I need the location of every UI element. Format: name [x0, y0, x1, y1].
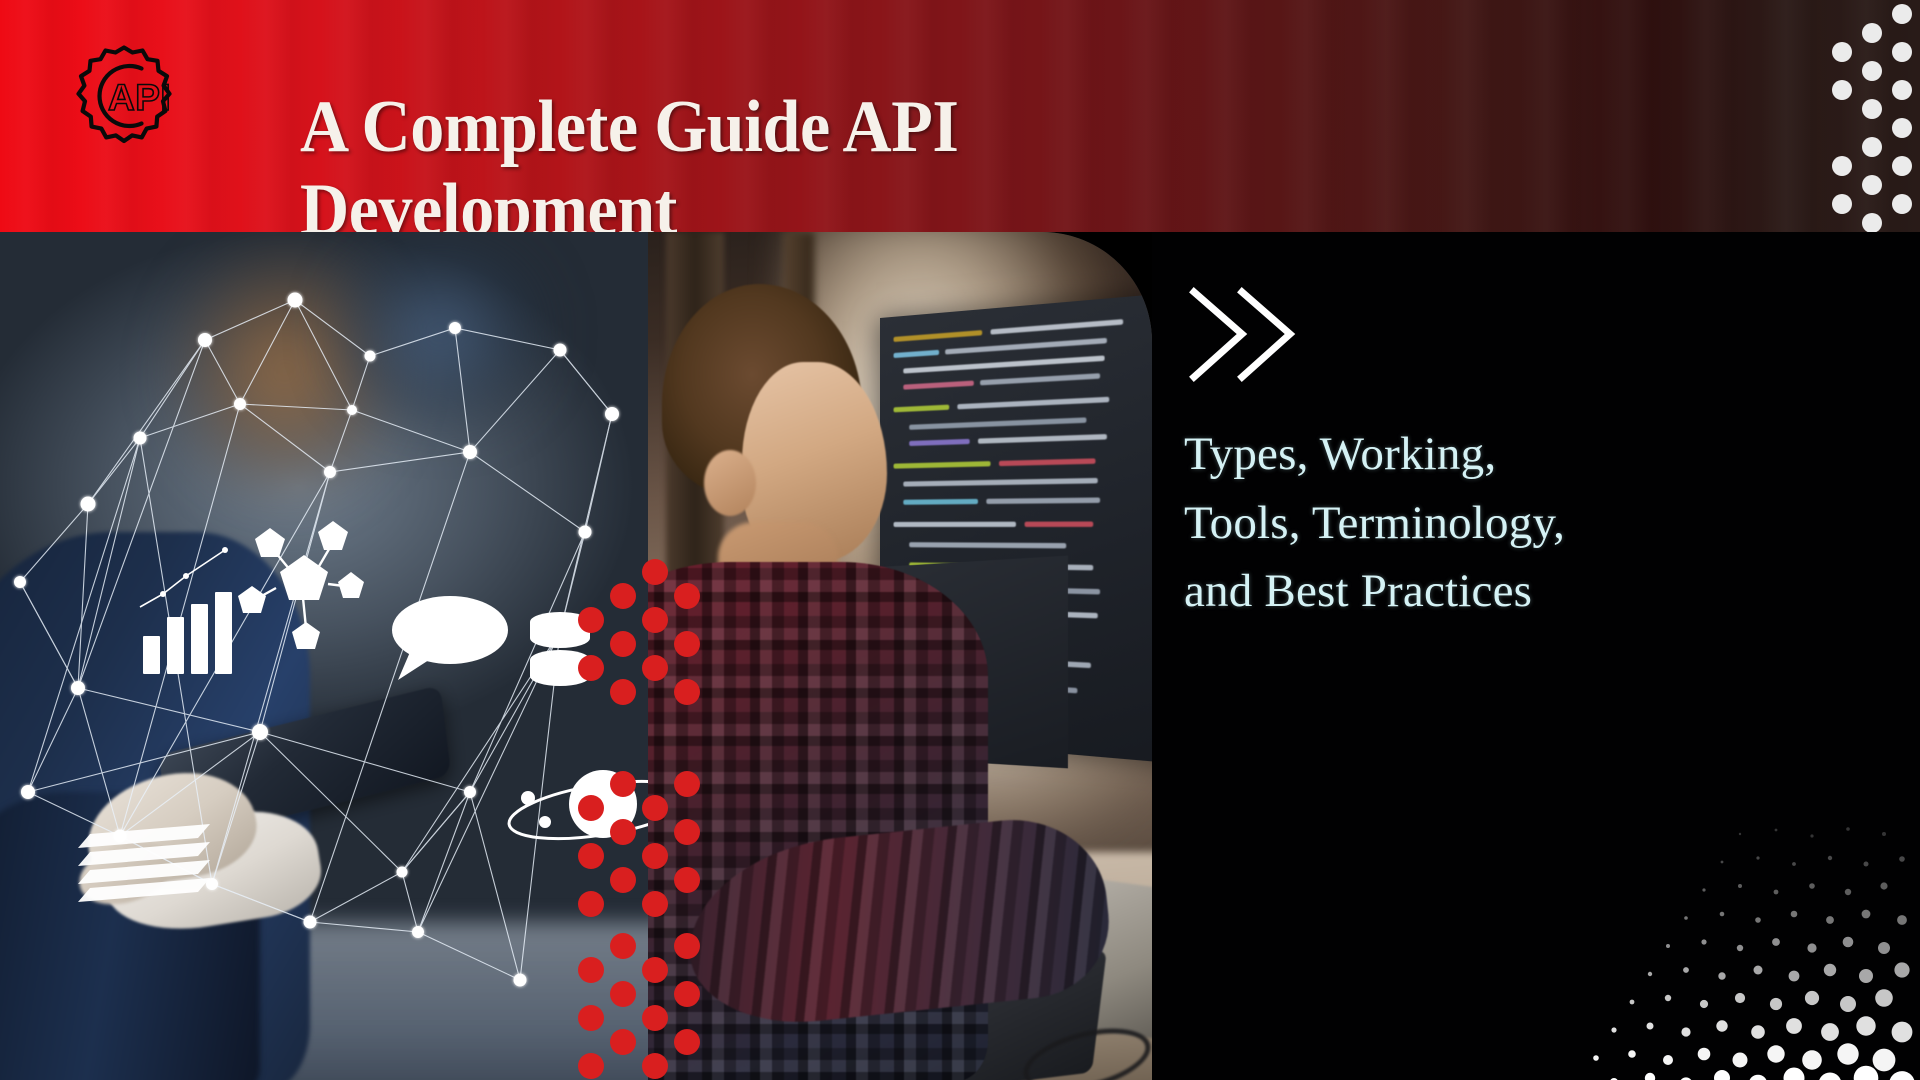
- api-gear-icon: API: [62, 42, 186, 166]
- halftone-dot-gradient: [1490, 820, 1920, 1080]
- api-development-banner: API A Complete Guide API Development: [0, 0, 1920, 1080]
- developer-desk-photo: [648, 232, 1152, 1080]
- svg-text:API: API: [108, 77, 171, 118]
- page-title: A Complete Guide API Development: [300, 86, 1183, 232]
- subtitle: Types, Working, Tools, Terminology, and …: [1184, 420, 1604, 626]
- developer-ear: [704, 450, 756, 516]
- double-chevron-right-icon: [1184, 282, 1304, 387]
- hero-photo-collage: [0, 232, 1152, 1080]
- speech-bubble-icon: [392, 596, 508, 680]
- ai-network-photo: [0, 232, 648, 1080]
- white-dot-grid: [1790, 0, 1920, 232]
- photo-light-cool: [330, 232, 550, 432]
- database-icon: [530, 612, 590, 686]
- planet-icon: [505, 770, 648, 849]
- side-panel: Types, Working, Tools, Terminology, and …: [1152, 232, 1920, 1080]
- header-band: API A Complete Guide API Development: [0, 0, 1920, 232]
